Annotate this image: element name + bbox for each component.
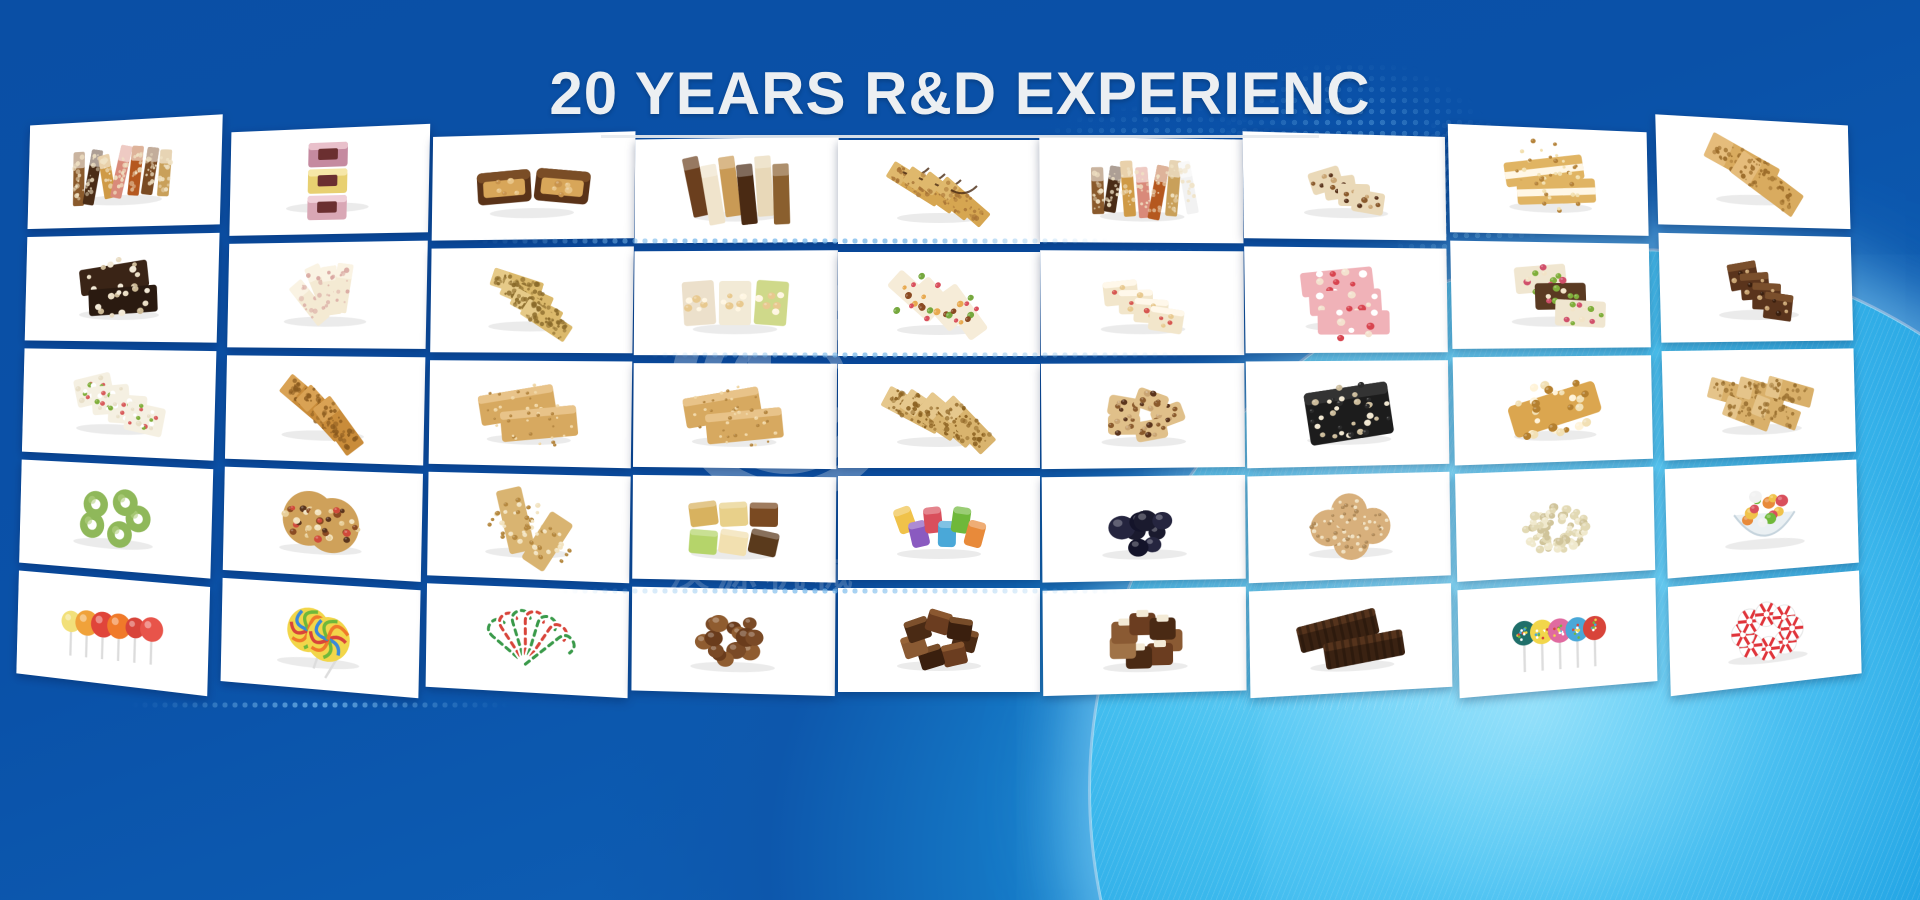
product-card[interactable]: [22, 348, 216, 460]
product-card[interactable]: [838, 588, 1040, 692]
product-card[interactable]: [225, 355, 425, 465]
product-card[interactable]: [635, 137, 839, 244]
product-card[interactable]: [19, 460, 213, 579]
product-card[interactable]: [1448, 124, 1649, 236]
product-card[interactable]: [1042, 587, 1246, 696]
wall-column: [221, 124, 431, 698]
page-title-block: 20 YEARS R&D EXPERIENC: [0, 62, 1920, 138]
product-card[interactable]: [426, 583, 629, 698]
product-card[interactable]: [16, 570, 210, 696]
product-card[interactable]: [430, 246, 634, 353]
product-card[interactable]: [1453, 355, 1653, 465]
product-card[interactable]: [1042, 475, 1246, 583]
product-card[interactable]: [838, 476, 1040, 580]
product-card[interactable]: [1040, 250, 1244, 355]
product-card[interactable]: [427, 472, 631, 584]
product-card[interactable]: [1450, 241, 1651, 349]
product-card[interactable]: [229, 124, 430, 236]
wall-column: [1655, 114, 1861, 696]
product-card[interactable]: [25, 233, 220, 343]
product-card[interactable]: [838, 140, 1040, 244]
wall-column: [1448, 124, 1658, 698]
product-card[interactable]: [1249, 583, 1452, 698]
product-card[interactable]: [1039, 137, 1243, 244]
title-underline: [601, 135, 1319, 138]
product-card[interactable]: [1455, 467, 1655, 582]
wall-column: [16, 114, 222, 696]
wall-column: [838, 140, 1040, 692]
page-title: 20 YEARS R&D EXPERIENC: [549, 62, 1370, 125]
product-card[interactable]: [838, 364, 1040, 468]
product-card[interactable]: [223, 467, 423, 582]
product-card[interactable]: [1668, 570, 1862, 696]
promo-banner: 20 YEARS R&D EXPERIENC HANYUAN 汉源机械: [0, 0, 1920, 900]
product-card[interactable]: [1457, 578, 1657, 698]
product-card[interactable]: [633, 363, 837, 469]
product-card[interactable]: [221, 578, 421, 698]
wall-column: [631, 137, 838, 696]
product-card[interactable]: [1244, 246, 1448, 353]
wall-column: [1242, 131, 1452, 698]
product-card[interactable]: [1665, 460, 1859, 579]
wall-column: [426, 131, 636, 698]
product-card[interactable]: [1246, 360, 1450, 468]
product-card[interactable]: [227, 241, 428, 349]
product-card[interactable]: [634, 250, 838, 355]
product-card[interactable]: [1658, 233, 1853, 343]
product-card[interactable]: [1662, 348, 1856, 460]
product-card[interactable]: [1247, 472, 1451, 584]
product-card[interactable]: [631, 587, 835, 696]
product-card[interactable]: [632, 475, 836, 583]
wall-column: [1039, 137, 1246, 696]
product-card[interactable]: [838, 252, 1040, 356]
product-card[interactable]: [1041, 363, 1245, 469]
product-card[interactable]: [432, 131, 636, 240]
product-card[interactable]: [1242, 131, 1446, 240]
product-wall: [0, 140, 1920, 830]
product-card[interactable]: [429, 360, 633, 468]
